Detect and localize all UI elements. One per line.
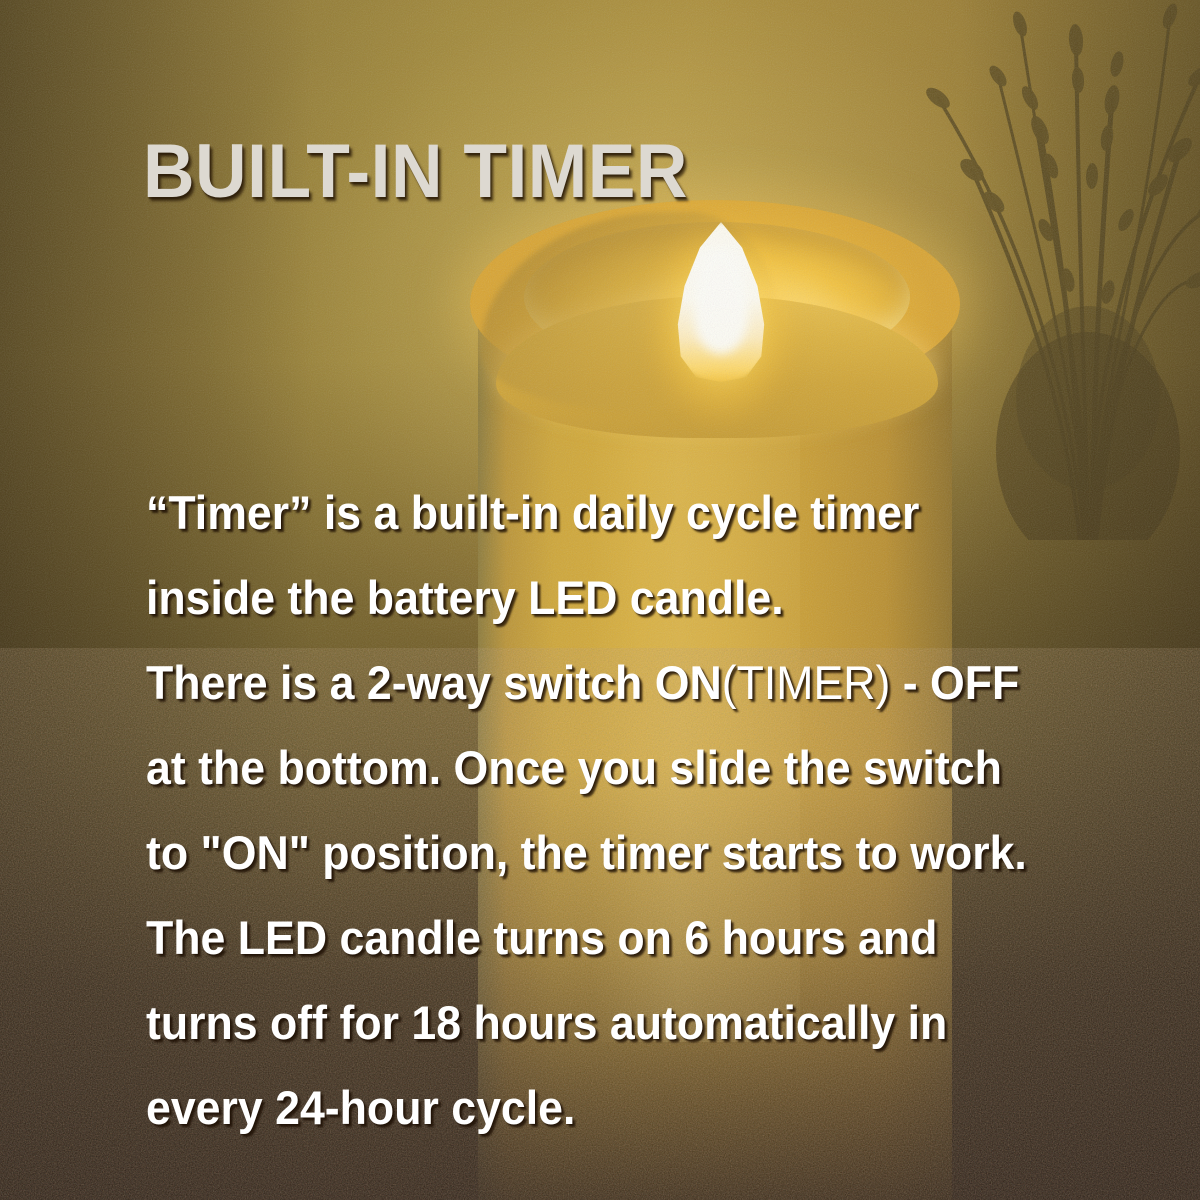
product-infographic: BUILT-IN TIMER “Timer” is a built-in dai…: [0, 0, 1200, 1200]
description-line-7: turns off for 18 hours automatically in: [146, 980, 1096, 1065]
description-line-3: There is a 2-way switch ON(TIMER) - OFF: [146, 640, 1096, 725]
description-line-5: to "ON" position, the timer starts to wo…: [146, 810, 1096, 895]
description-line-4: at the bottom. Once you slide the switch: [146, 725, 1096, 810]
description-line-8: every 24-hour cycle.: [146, 1065, 1096, 1150]
page-title: BUILT-IN TIMER: [143, 134, 688, 210]
description-line-2: inside the battery LED candle.: [146, 555, 1096, 640]
line-3-segment-timer: (TIMER): [722, 656, 891, 709]
description-line-6: The LED candle turns on 6 hours and: [146, 895, 1096, 980]
line-3-segment-1: There is a 2-way switch: [146, 656, 655, 709]
text-overlay: BUILT-IN TIMER “Timer” is a built-in dai…: [0, 0, 1200, 1200]
line-3-segment-on: ON: [655, 656, 722, 709]
description-block: “Timer” is a built-in daily cycle timer …: [146, 470, 1146, 1150]
description-line-1: “Timer” is a built-in daily cycle timer: [146, 470, 1096, 555]
line-3-segment-off: - OFF: [890, 656, 1019, 709]
